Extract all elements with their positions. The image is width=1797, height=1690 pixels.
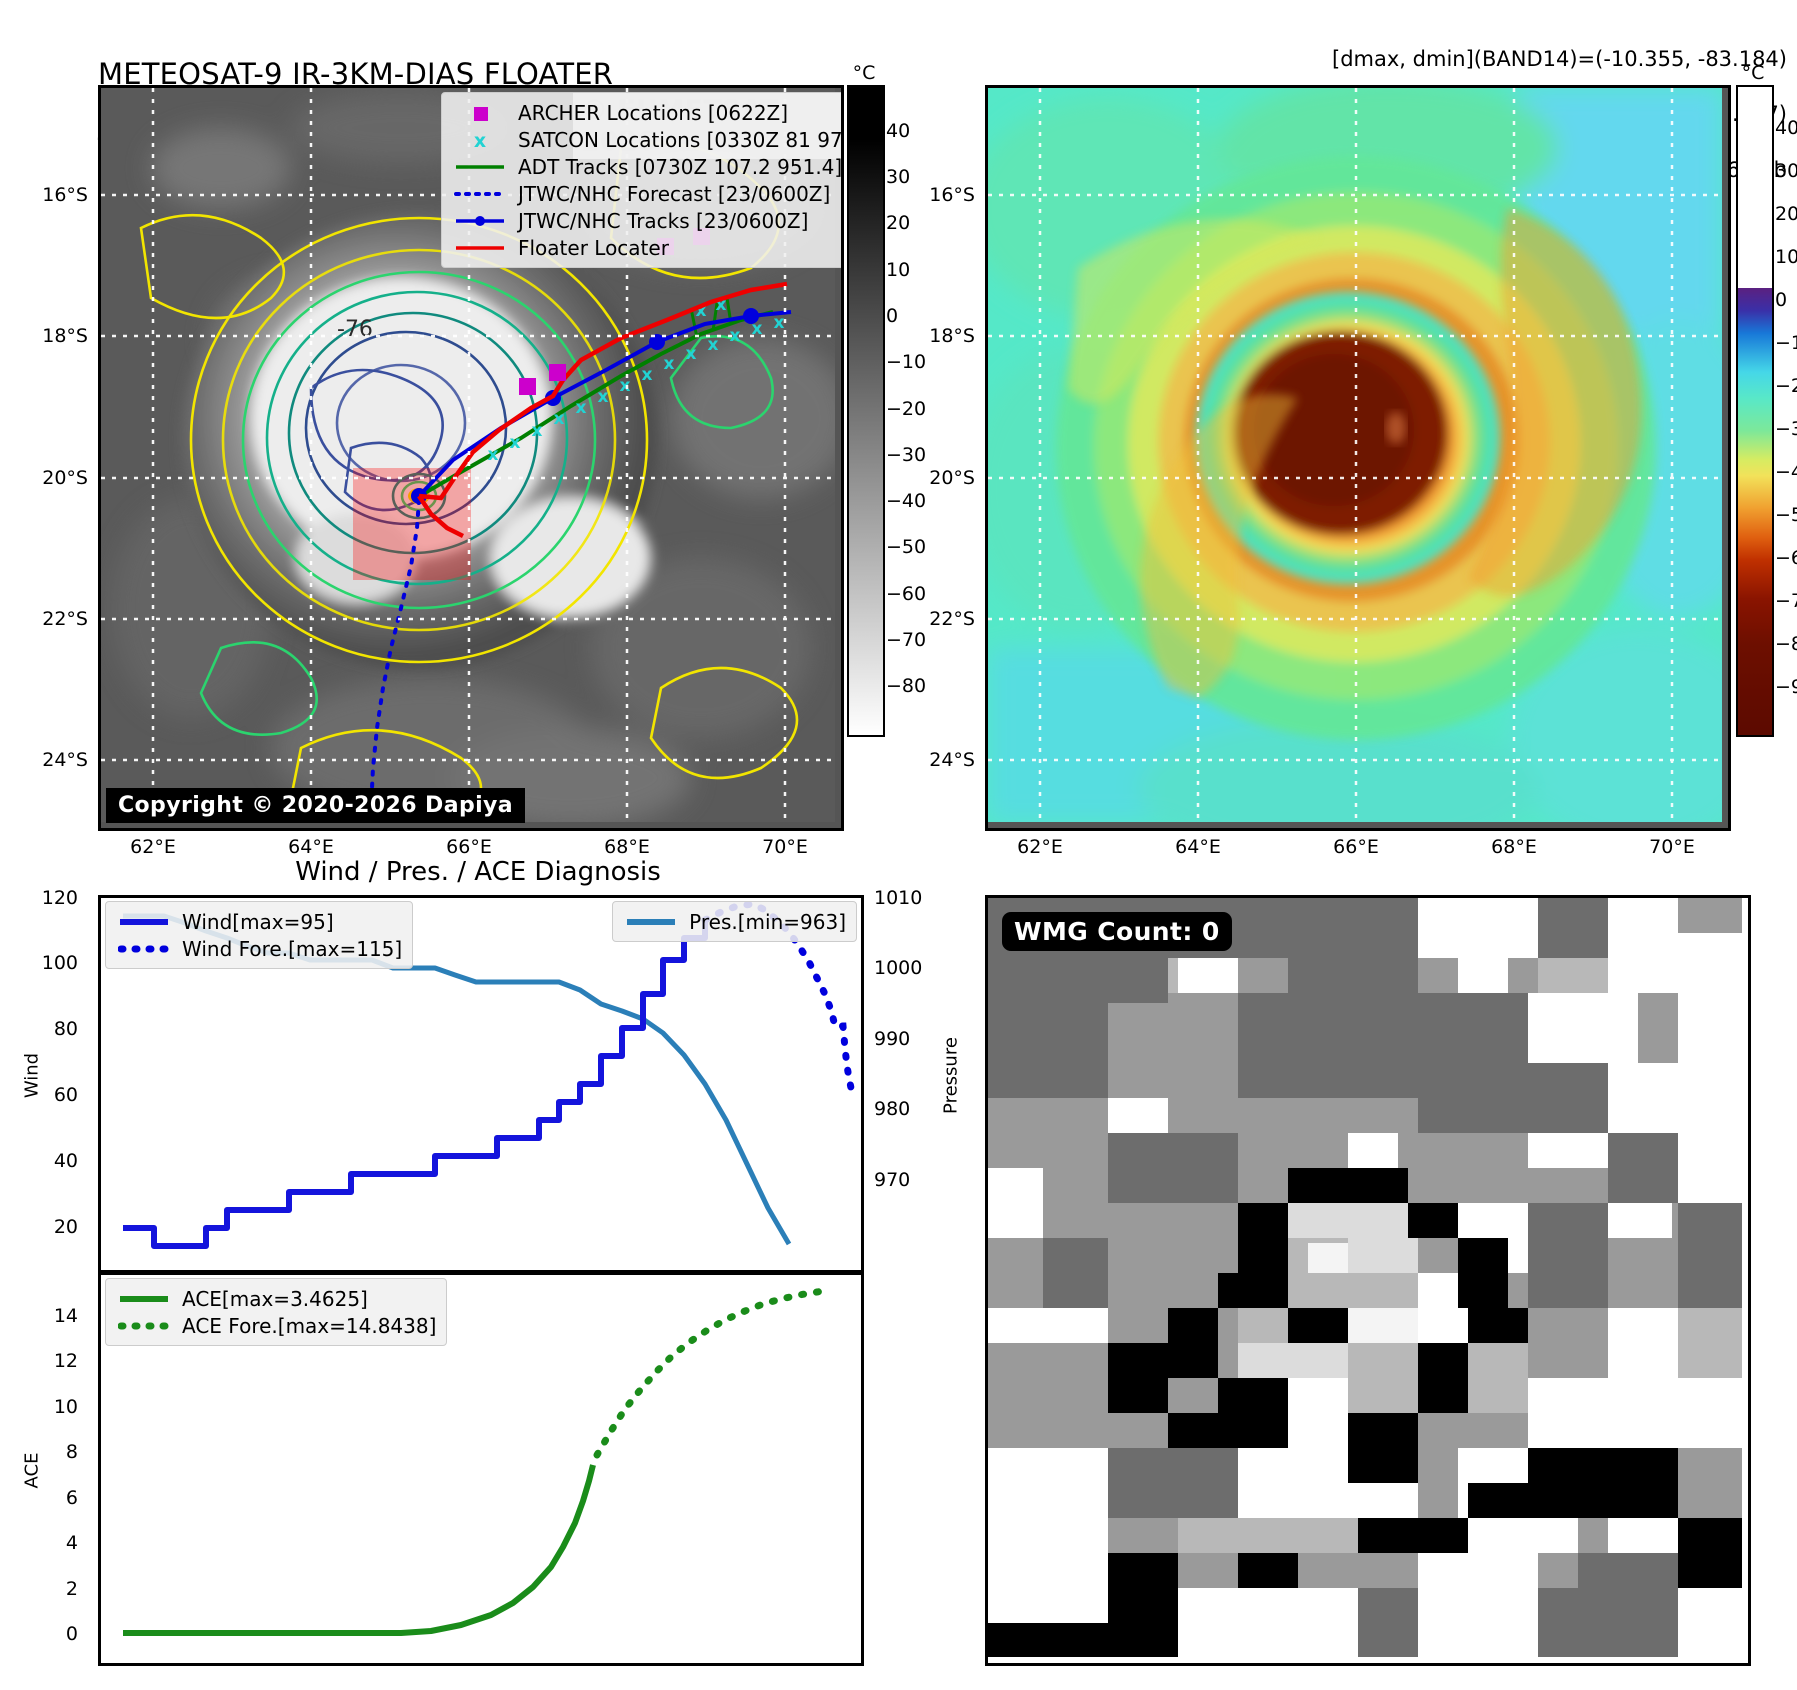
pressure-axis-label: Pressure [941,1031,962,1121]
svg-text:x: x [532,421,543,441]
ace-axis-label: ACE [22,1431,43,1511]
svg-text:x: x [686,344,697,364]
legend-label: ACE Fore.[max=14.8438] [182,1314,436,1338]
ace-forecast-series [597,1290,831,1455]
svg-text:x: x [620,376,631,396]
legend-label: JTWC/NHC Tracks [23/0600Z] [518,209,808,233]
legend-item[interactable]: JTWC/NHC Tracks [23/0600Z] [452,207,844,234]
wind-yticks: 120 100 80 60 40 20 [0,895,92,1267]
awv-map-lat-labels: 16°S 18°S 20°S 22°S 24°S [887,85,975,825]
ace-forecast-dotted-icon [116,1320,172,1332]
wind-pres-ace-title: Wind / Pres. / ACE Diagnosis [98,857,858,887]
awv-satellite-image [988,88,1722,822]
ace-legend: ACE[max=3.4625] ACE Fore.[max=14.8438] [105,1278,447,1346]
legend-item[interactable]: Wind[max=95] [116,908,402,935]
awv-colorbar-unit: °C [1729,62,1777,84]
wind-axis-label: Wind [22,1036,43,1116]
floater-locater-line-icon [452,242,508,254]
wind-legend: Wind[max=95] Wind Fore.[max=115] [105,901,413,969]
wmg-count-badge: WMG Count: 0 [1002,912,1232,951]
legend-label: ARCHER Locations [0622Z] [518,101,788,125]
adt-line-icon [452,161,508,173]
legend-label: ADT Tracks [0730Z 107.2 951.4] [518,155,842,179]
legend-label: Wind[max=95] [182,910,334,934]
legend-item[interactable]: JTWC/NHC Forecast [23/0600Z] [452,180,844,207]
legend-item[interactable]: ADT Tracks [0730Z 107.2 951.4] [452,153,844,180]
awv-map-lon-labels: 62°E 64°E 66°E 68°E 70°E [985,836,1725,866]
svg-text:x: x [708,335,719,355]
pressure-legend: Pres.[min=963] [612,901,857,942]
svg-text:x: x [474,130,486,150]
legend-label: SATCON Locations [0330Z 81 970] [518,128,844,152]
svg-text:x: x [664,354,675,374]
ir-map-lat-labels: 16°S 18°S 20°S 22°S 24°S [0,85,88,825]
svg-text:x: x [642,365,653,385]
svg-text:x: x [774,313,785,333]
legend-label: Wind Fore.[max=115] [182,937,402,961]
ace-line-icon [116,1293,172,1305]
awv-colorbar [1736,85,1774,737]
wind-forecast-dotted-icon [116,943,172,955]
svg-text:x: x [598,387,609,407]
svg-text:x: x [576,398,587,418]
legend-label: Pres.[min=963] [689,910,846,934]
ace-series [123,1465,593,1633]
legend-item[interactable]: Floater Locater [452,234,844,261]
legend-item[interactable]: Pres.[min=963] [623,908,846,935]
legend-item[interactable]: Wind Fore.[max=115] [116,935,402,962]
svg-text:x: x [488,445,499,465]
wmg-panel[interactable]: WMG Count: 0 [985,895,1751,1666]
wind-line-icon [116,916,172,928]
satcon-cross-icon: x [452,130,508,150]
legend-label: Floater Locater [518,236,669,260]
wind-pressure-chart[interactable]: Wind[max=95] Wind Fore.[max=115] Pres.[m… [98,895,864,1273]
dmax-dmin-band14: [dmax, dmin](BAND14)=(-10.355, -83.184) [1332,46,1787,74]
ir-colorbar [847,85,885,737]
legend-label: JTWC/NHC Forecast [23/0600Z] [518,182,830,206]
archer-square-icon [452,103,508,123]
ir-floater-map[interactable]: xxx xxx xxx xxx xx xx -76 [98,85,844,831]
ir-colorbar-unit: °C [840,62,888,84]
awv-colorbar-ticks: 4030 2010 0−10 −20−30 −40−50 −60−70 −80−… [1775,85,1797,733]
legend-label: ACE[max=3.4625] [182,1287,368,1311]
jtwc-track-marker-icon [452,214,508,228]
legend-item[interactable]: ACE[max=3.4625] [116,1285,436,1312]
legend-item[interactable]: x SATCON Locations [0330Z 81 970] [452,126,844,153]
ace-chart[interactable]: ACE[max=3.4625] ACE Fore.[max=14.8438] [98,1272,864,1666]
pressure-line-icon [623,916,679,928]
svg-text:x: x [554,409,565,429]
copyright-badge: Copyright © 2020-2026 Dapiya [106,788,525,823]
svg-text:x: x [510,433,521,453]
contour-label: -76 [337,317,373,342]
awv-enhanced-map[interactable] [985,85,1731,831]
legend-item[interactable]: ARCHER Locations [0622Z] [452,99,844,126]
legend-item[interactable]: ACE Fore.[max=14.8438] [116,1312,436,1339]
ace-yticks: 14 12 10 8 6 4 2 0 [0,1272,92,1660]
wmg-image [988,898,1742,1657]
ir-map-legend: ARCHER Locations [0622Z] x SATCON Locati… [441,92,844,268]
jtwc-forecast-dotted-icon [452,188,508,200]
